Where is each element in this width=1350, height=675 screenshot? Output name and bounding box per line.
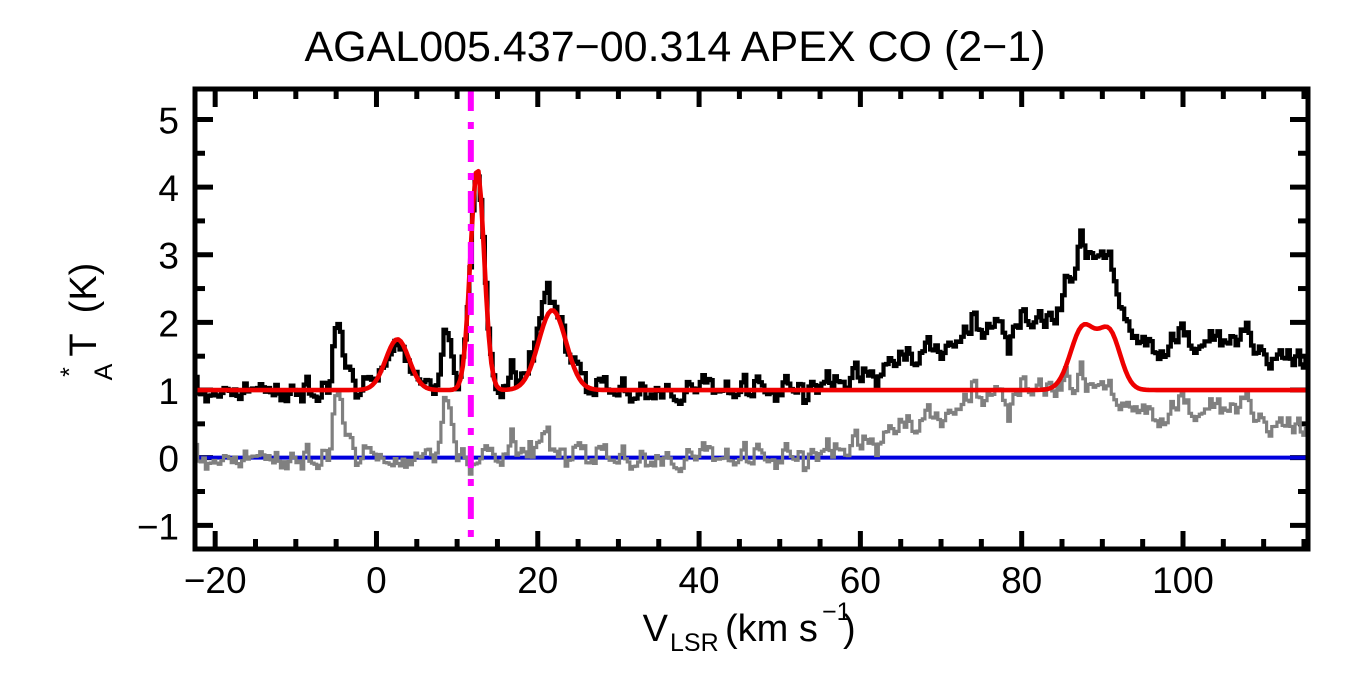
spectrum-figure: AGAL005.437−00.314 APEX CO (2−1) T * A (… (0, 0, 1350, 675)
x-tick-label: −20 (184, 560, 247, 601)
y-tick-label: 3 (158, 236, 179, 277)
x-axis-label-main: V (643, 608, 669, 650)
y-axis-label-unit: (K) (63, 263, 105, 314)
y-axis-label-sub: A (90, 363, 118, 380)
y-tick-label: 1 (158, 371, 179, 412)
x-tick-label: 80 (1001, 560, 1042, 601)
y-axis-label-star: * (56, 367, 84, 377)
y-tick-label: 2 (158, 303, 179, 344)
x-axis-label-sub: LSR (670, 629, 719, 657)
y-tick-label: 5 (158, 100, 179, 141)
y-tick-label: −1 (137, 506, 179, 547)
x-axis-label-close: ) (843, 608, 856, 650)
y-tick-label: 0 (158, 439, 179, 480)
x-tick-label: 100 (1152, 560, 1214, 601)
x-tick-label: 60 (840, 560, 881, 601)
y-tick-label: 4 (158, 168, 179, 209)
x-tick-label: 20 (517, 560, 558, 601)
x-tick-label: 0 (366, 560, 387, 601)
x-tick-label: 40 (678, 560, 719, 601)
x-axis-label-unit: (km s (725, 608, 818, 650)
page-title: AGAL005.437−00.314 APEX CO (2−1) (304, 23, 1045, 71)
spectrum-plot: AGAL005.437−00.314 APEX CO (2−1) T * A (… (0, 0, 1350, 675)
y-axis-label-main: T (63, 333, 105, 356)
